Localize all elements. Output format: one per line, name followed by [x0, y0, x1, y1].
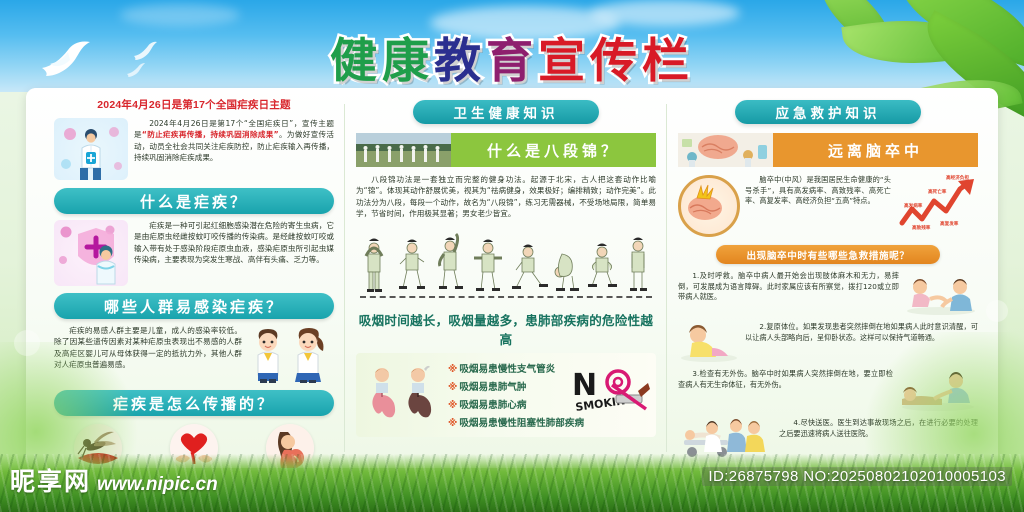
content-board: 2024年4月26日是第17个全国疟疾日主题: [26, 88, 998, 468]
poster-root: 健康教育宣传栏 2024年4月26日是第17个全国疟疾日主题: [0, 0, 1024, 512]
bullet-text: 吸烟易患肺气肿: [459, 382, 526, 393]
brain-stroke-icon: [678, 175, 740, 237]
baduanjin-paragraph: 八段锦功法是一套独立而完整的健身功法。起源于北宋，古人把这套动作比喻为“锦”。体…: [356, 174, 656, 220]
healthy-vs-smoker-lungs: [364, 363, 438, 429]
intro-paragraph: 2024年4月26日是第17个“全国疟疾日”，宣传主题是“防止疟疾再传播，持续巩…: [134, 118, 334, 164]
baduanjin-banner-label: 什么是八段锦？: [451, 133, 656, 167]
image-id-watermark: ID:26875798 NO:20250802102010005103: [702, 467, 1012, 486]
emergency-step-text: 1.及时呼救。脑卒中病人最开始会出现肢体麻木和无力，易摔倒，可发展成为语言障碍。…: [678, 271, 899, 303]
title-char: 康: [382, 22, 434, 91]
emergency-steps-heading: 出现脑卒中时有些哪些急救措施呢？: [716, 245, 940, 264]
bokeh-decoration: [14, 330, 40, 356]
title-char: 育: [486, 22, 538, 91]
page-title: 健康教育宣传栏: [0, 22, 1024, 91]
stroke-banner: 远离脑卒中: [678, 133, 978, 167]
baduanjin-banner: 什么是八段锦？: [356, 133, 656, 167]
section-heading-susceptible-groups: 哪些人群易感染疟疾？: [54, 293, 334, 319]
title-char: 栏: [642, 22, 694, 91]
column-divider: [344, 104, 345, 452]
doctor-virus-illustration: [54, 118, 128, 180]
bullet-text: 吸烟易患肺心病: [459, 400, 526, 411]
what-is-malaria-block: 疟疾是一种可引起红细胞感染潜在危险的寄生虫病，它是由疟原虫经雌按蚊叮咬传播的传染…: [54, 220, 334, 286]
chart-label: 高复发率: [940, 221, 958, 227]
bullet-marker: ※: [448, 364, 457, 375]
bullet-marker: ※: [448, 382, 457, 393]
list-item: ※吸烟易患肺气肿: [448, 379, 584, 397]
stroke-banner-label: 远离脑卒中: [773, 133, 978, 167]
ground-dashed-line: [360, 296, 652, 298]
intro-highlight: “防止疟疾再传播，持续巩固消除成果”: [142, 130, 279, 139]
stroke-intro-block: 脑卒中(中风）是我国居民生命健康的“头号杀手”，具有高发病率、高致残率、高死亡率…: [678, 175, 978, 237]
site-url: www.nipic.cn: [97, 474, 218, 496]
middle-column-title: 卫生健康知识: [413, 100, 599, 124]
list-item: ※吸烟易患肺心病: [448, 397, 584, 415]
smoking-bullet-list: ※吸烟易患慢性支气管炎 ※吸烟易患肺气肿 ※吸烟易患肺心病 ※吸烟易患慢性阻塞性…: [448, 361, 584, 433]
bullet-marker: ※: [448, 418, 457, 429]
no-smoking-sign: N SMOKING: [572, 367, 650, 421]
chart-label: 高发病率: [904, 203, 922, 209]
helping-fallen-patient-icon: [904, 271, 978, 315]
chart-label: 高死亡率: [928, 189, 946, 195]
bullet-text: 吸烟易患慢性阻塞性肺部疾病: [459, 418, 584, 429]
step-body: 及时呼救。脑卒中病人最开始会出现肢体麻木和无力，易摔倒，可发展成为语言障碍。此时…: [678, 271, 899, 301]
title-char: 教: [434, 22, 486, 91]
eight-taiji-exercise-figures: [356, 228, 656, 302]
bullet-marker: ※: [448, 400, 457, 411]
stroke-intro-text: 脑卒中(中风）是我国居民生命健康的“头号杀手”，具有高发病率、高致残率、高死亡率…: [745, 175, 891, 207]
chart-label: 高经济负担: [946, 175, 969, 181]
two-schoolkids-illustration: [248, 325, 334, 383]
right-column-title: 应急救护知识: [735, 100, 921, 124]
smoking-heading: 吸烟时间越长，吸烟量越多，患肺部疾病的危险性越高: [356, 310, 656, 348]
site-name-cn: 昵享网: [10, 462, 91, 498]
emergency-step: 1.及时呼救。脑卒中病人最开始会出现肢体麻木和无力，易摔倒，可发展成为语言障碍。…: [678, 271, 978, 315]
malaria-day-heading: 2024年4月26日是第17个全国疟疾日主题: [54, 98, 334, 112]
list-item: ※吸烟易患慢性支气管炎: [448, 361, 584, 379]
chart-label: 高致残率: [912, 225, 930, 231]
smoking-info-box: ※吸烟易患慢性支气管炎 ※吸烟易患肺气肿 ※吸烟易患肺心病 ※吸烟易患慢性阻塞性…: [356, 353, 656, 437]
bullet-text: 吸烟易患慢性支气管炎: [459, 364, 555, 375]
recovery-position-icon: [678, 322, 740, 362]
site-watermark: 昵享网 www.nipic.cn: [10, 462, 218, 498]
list-item: ※吸烟易患慢性阻塞性肺部疾病: [448, 415, 584, 433]
column-divider: [666, 104, 667, 452]
what-is-malaria-text: 疟疾是一种可引起红细胞感染潜在危险的寄生虫病，它是由疟原虫经雌按蚊叮咬传播的传染…: [134, 220, 334, 266]
section-heading-what-is-malaria: 什么是疟疾？: [54, 188, 334, 214]
title-char: 健: [330, 22, 382, 91]
brain-research-illustration: [678, 133, 773, 167]
five-high-arrow-chart: 高发病率 高致残率 高死亡率 高复发率 高经济负担: [896, 175, 978, 233]
title-char: 传: [590, 22, 642, 91]
middle-column: 卫生健康知识: [356, 88, 656, 468]
outdoor-group-exercise-photo: [356, 133, 451, 167]
bokeh-decoration: [986, 300, 1008, 322]
title-char: 宣: [538, 22, 590, 91]
intro-block: 2024年4月26日是第17个“全国疟疾日”，宣传主题是“防止疟疾再传播，持续巩…: [54, 118, 334, 180]
shield-cross-doctor-illustration: [54, 220, 128, 286]
